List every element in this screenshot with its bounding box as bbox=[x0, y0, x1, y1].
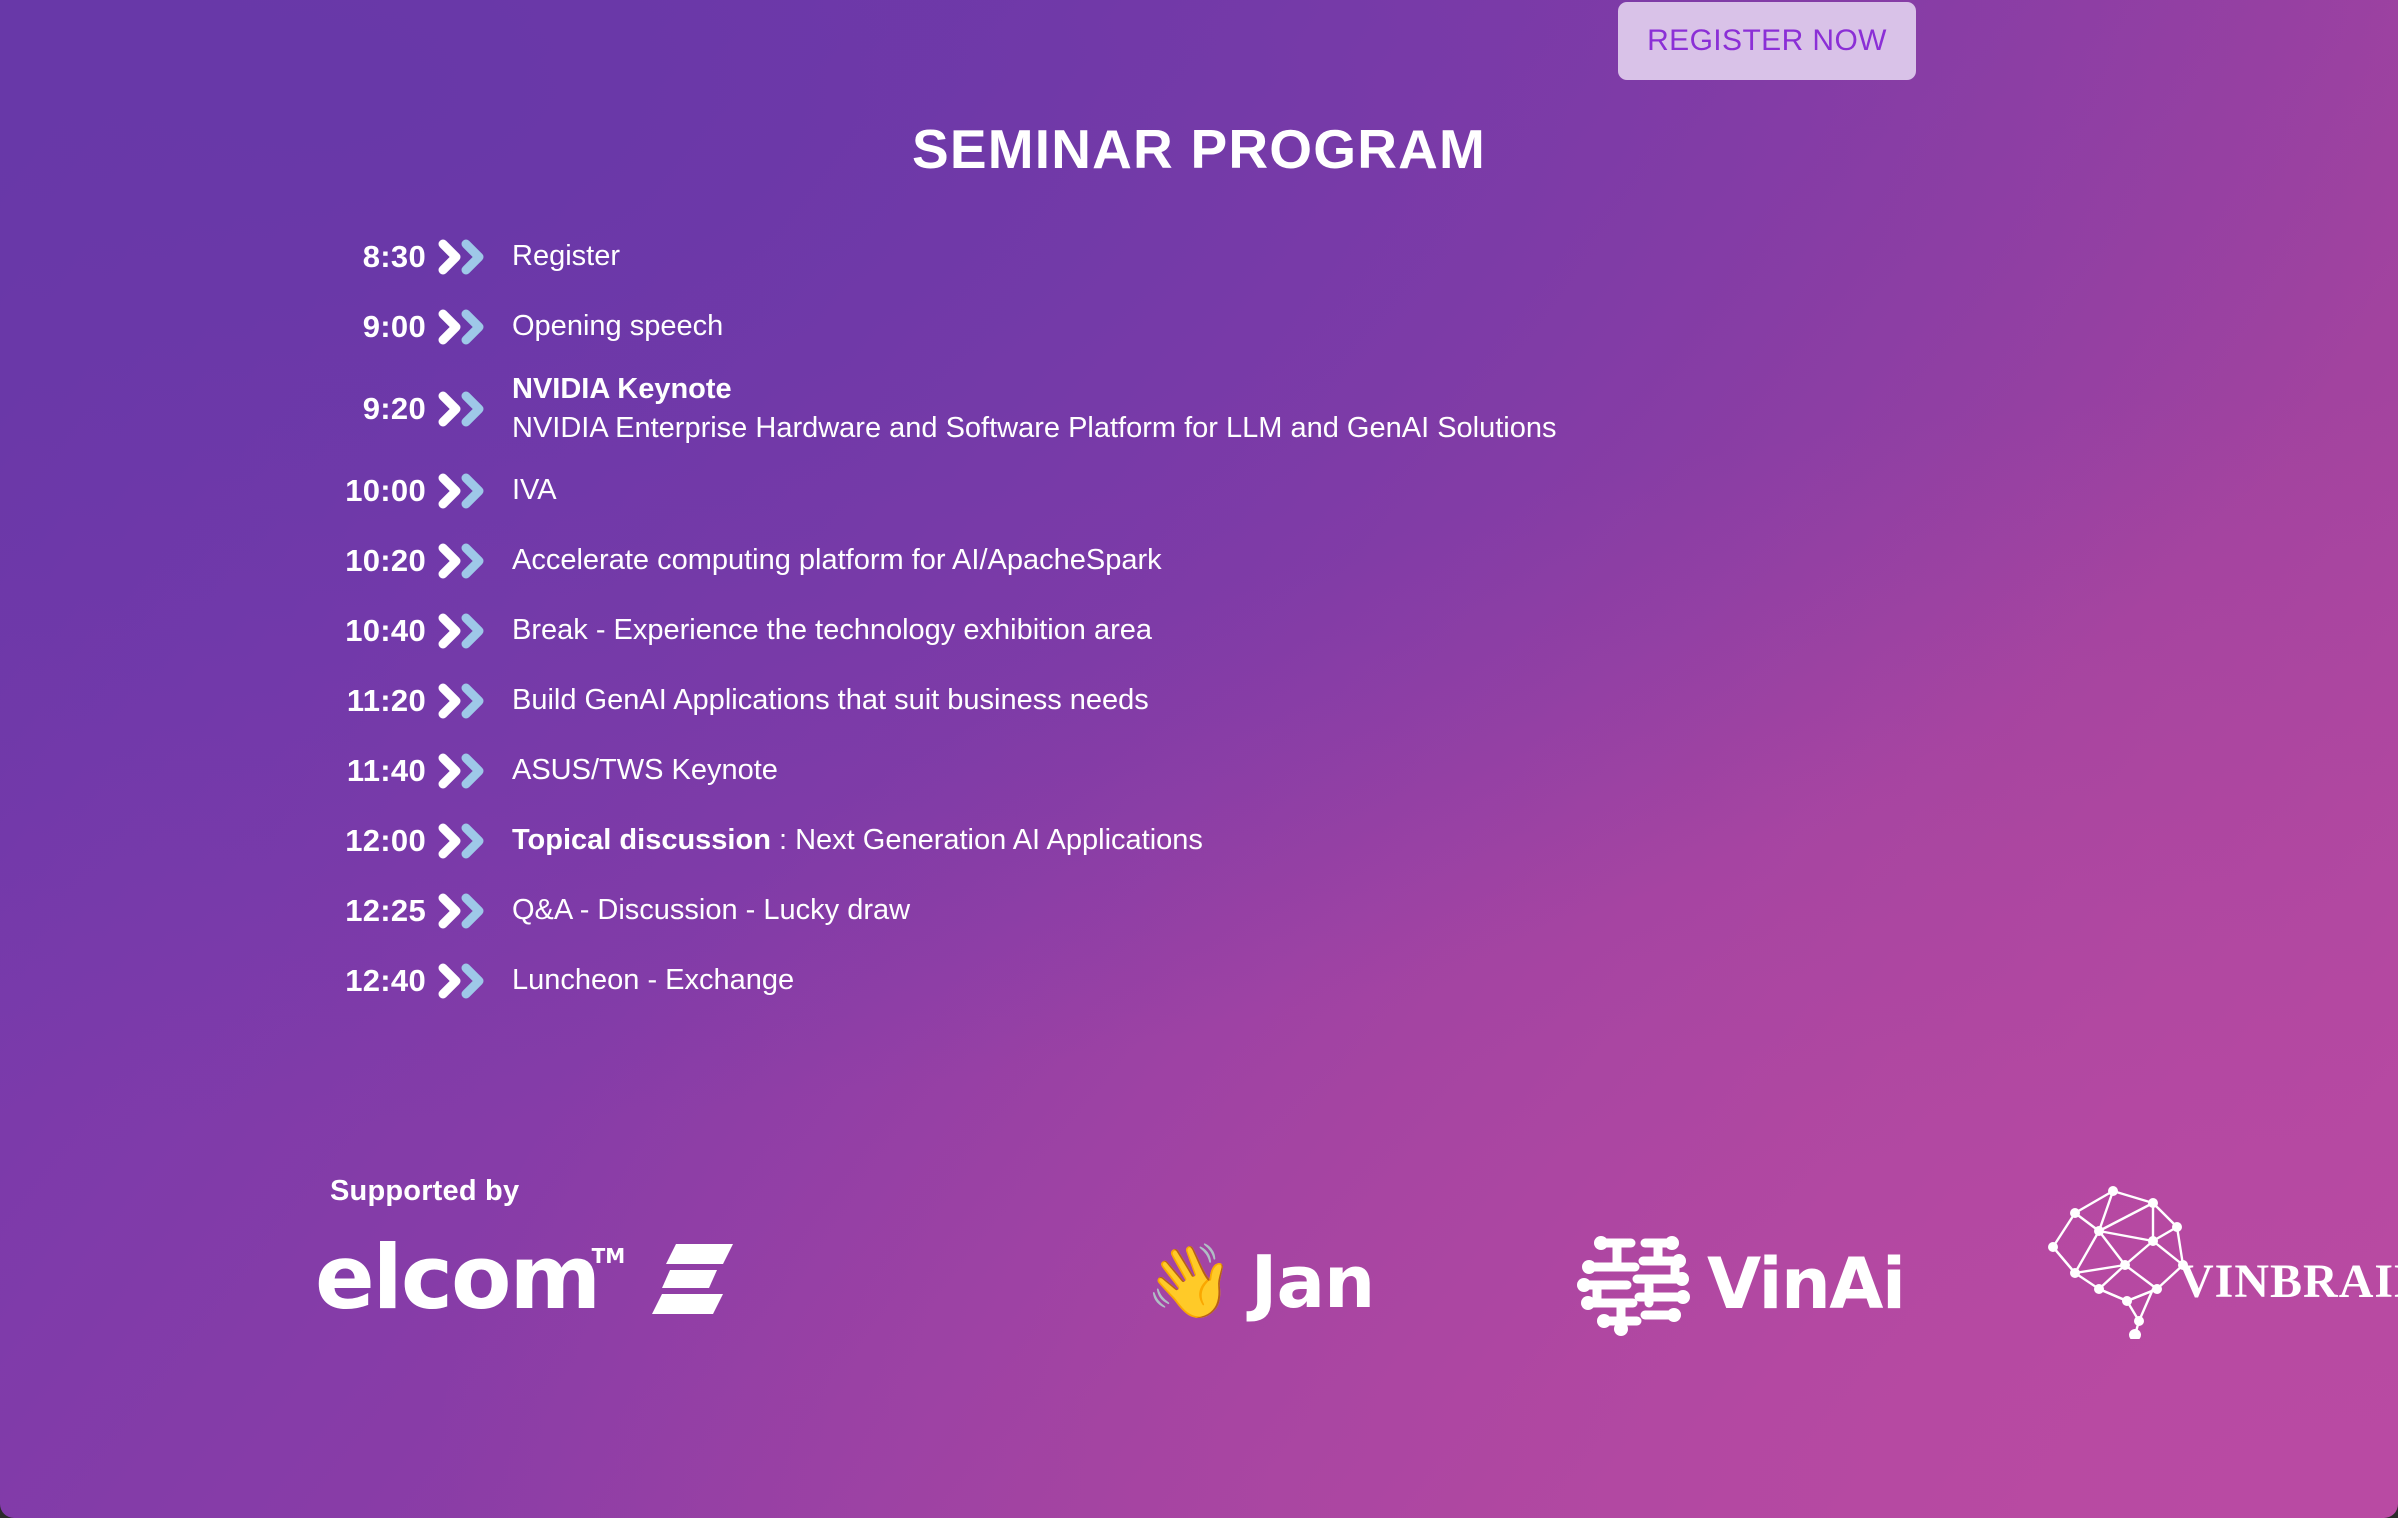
agenda-row-time: 10:00 bbox=[300, 473, 426, 509]
agenda-row: 10:00 IVA bbox=[300, 456, 2000, 526]
agenda-row-body: ASUS/TWS Keynote bbox=[502, 751, 2000, 790]
sponsor-logo-vinbrain: VINBRAIN bbox=[2035, 1196, 2398, 1316]
elcom-word-text: elcom bbox=[315, 1226, 599, 1329]
waving-hand-emoji: 👋 bbox=[1145, 1246, 1235, 1318]
agenda-row-title: IVA bbox=[512, 471, 2000, 510]
sponsor-logo-strip: elcom TM 👋 Jan bbox=[300, 1218, 2200, 1348]
double-chevron-right-icon bbox=[426, 683, 502, 719]
agenda-row-time: 9:20 bbox=[300, 391, 426, 427]
agenda-row-time: 11:20 bbox=[300, 683, 426, 719]
agenda-row-title: Build GenAI Applications that suit busin… bbox=[512, 681, 2000, 720]
agenda-row-time: 12:00 bbox=[300, 823, 426, 859]
agenda-row-body: NVIDIA Keynote NVIDIA Enterprise Hardwar… bbox=[502, 370, 2000, 449]
agenda-row-title: Luncheon - Exchange bbox=[512, 961, 2000, 1000]
agenda-row-subtitle: NVIDIA Enterprise Hardware and Software … bbox=[512, 409, 2000, 448]
agenda-row: 12:40 Luncheon - Exchange bbox=[300, 946, 2000, 1016]
trademark-icon: TM bbox=[592, 1246, 626, 1266]
agenda-row: 10:20 Accelerate computing platform for … bbox=[300, 526, 2000, 596]
agenda-row: 10:40 Break - Experience the technology … bbox=[300, 596, 2000, 666]
agenda-row-body: Break - Experience the technology exhibi… bbox=[502, 611, 2000, 650]
agenda-row-title: ASUS/TWS Keynote bbox=[512, 751, 2000, 790]
double-chevron-right-icon bbox=[426, 893, 502, 929]
agenda-row-time: 11:40 bbox=[300, 753, 426, 789]
double-chevron-right-icon bbox=[426, 473, 502, 509]
supported-by-label: Supported by bbox=[330, 1175, 519, 1208]
double-chevron-right-icon bbox=[426, 543, 502, 579]
agenda-row-title: Break - Experience the technology exhibi… bbox=[512, 611, 2000, 650]
double-chevron-right-icon bbox=[426, 309, 502, 345]
double-chevron-right-icon bbox=[426, 963, 502, 999]
agenda-row: 12:00 Topical discussion : Next Generati… bbox=[300, 806, 2000, 876]
agenda-row-body: Luncheon - Exchange bbox=[502, 961, 2000, 1000]
jan-wordmark: Jan bbox=[1251, 1246, 1375, 1318]
agenda-list: 8:30 Register 9:00 Opening speech bbox=[300, 222, 2000, 1016]
agenda-row-time: 12:25 bbox=[300, 893, 426, 929]
agenda-row-time: 10:40 bbox=[300, 613, 426, 649]
vinai-wordmark: VinAi bbox=[1707, 1249, 1904, 1319]
agenda-row-body: IVA bbox=[502, 471, 2000, 510]
vinbrain-wordmark: VINBRAIN bbox=[2179, 1258, 2398, 1306]
double-chevron-right-icon bbox=[426, 391, 502, 427]
agenda-row-body: Q&A - Discussion - Lucky draw bbox=[502, 891, 2000, 930]
double-chevron-right-icon bbox=[426, 239, 502, 275]
agenda-row: 11:40 ASUS/TWS Keynote bbox=[300, 736, 2000, 806]
agenda-row-title: Accelerate computing platform for AI/Apa… bbox=[512, 541, 2000, 580]
agenda-row-body: Accelerate computing platform for AI/Apa… bbox=[502, 541, 2000, 580]
agenda-row-time: 10:20 bbox=[300, 543, 426, 579]
double-chevron-right-icon bbox=[426, 753, 502, 789]
sponsor-logo-vinai: VinAi bbox=[1575, 1224, 1904, 1344]
sponsor-logo-elcom: elcom TM bbox=[315, 1218, 735, 1338]
double-chevron-right-icon bbox=[426, 613, 502, 649]
sponsor-logo-jan: 👋 Jan bbox=[1145, 1222, 1374, 1342]
double-chevron-right-icon bbox=[426, 823, 502, 859]
agenda-row-title-bold: Topical discussion bbox=[512, 824, 771, 856]
elcom-wordmark: elcom TM bbox=[315, 1234, 599, 1322]
agenda-row-title-rest: : Next Generation AI Applications bbox=[771, 824, 1203, 856]
agenda-row: 11:20 Build GenAI Applications that suit… bbox=[300, 666, 2000, 736]
agenda-row-time: 8:30 bbox=[300, 239, 426, 275]
page-title: SEMINAR PROGRAM bbox=[0, 117, 2398, 181]
agenda-row-title: Opening speech bbox=[512, 307, 2000, 346]
register-now-button[interactable]: REGISTER NOW bbox=[1618, 2, 1916, 80]
agenda-row-body: Opening speech bbox=[502, 307, 2000, 346]
elcom-e-mark-icon bbox=[643, 1230, 735, 1327]
seminar-program-slide: REGISTER NOW SEMINAR PROGRAM 8:30 Regist… bbox=[0, 0, 2398, 1518]
agenda-row-time: 12:40 bbox=[300, 963, 426, 999]
agenda-row-body: Build GenAI Applications that suit busin… bbox=[502, 681, 2000, 720]
agenda-row-title: Register bbox=[512, 237, 2000, 276]
agenda-row: 12:25 Q&A - Discussion - Lucky draw bbox=[300, 876, 2000, 946]
agenda-row: 9:20 NVIDIA Keynote NVIDIA Enterprise Ha… bbox=[300, 362, 2000, 456]
vinai-circuit-mark-icon bbox=[1575, 1227, 1693, 1342]
agenda-row: 8:30 Register bbox=[300, 222, 2000, 292]
agenda-row-title: Q&A - Discussion - Lucky draw bbox=[512, 891, 2000, 930]
agenda-row-body: Topical discussion : Next Generation AI … bbox=[502, 821, 2000, 860]
agenda-row-title: NVIDIA Keynote bbox=[512, 370, 2000, 409]
agenda-row-time: 9:00 bbox=[300, 309, 426, 345]
agenda-row: 9:00 Opening speech bbox=[300, 292, 2000, 362]
agenda-row-body: Register bbox=[502, 237, 2000, 276]
